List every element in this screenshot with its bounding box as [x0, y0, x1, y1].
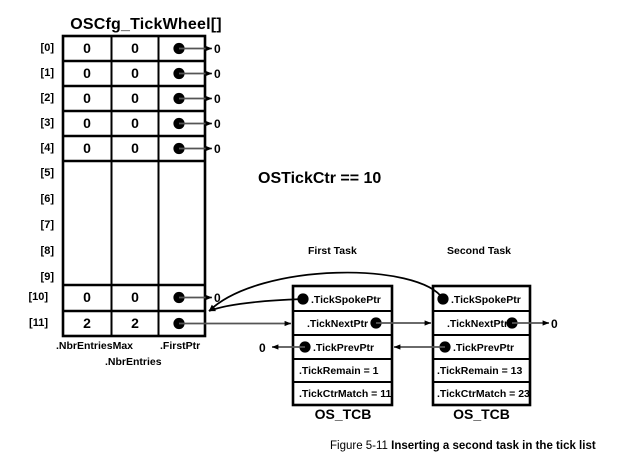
cell-max-11: 2: [63, 315, 111, 331]
task1-tick-spoke-ptr: .TickSpokePtr: [311, 294, 381, 306]
row-index-3: [3]: [18, 117, 54, 129]
label-nbr-entries-max: .NbrEntriesMax: [56, 340, 133, 352]
cell-max-4: 0: [63, 140, 111, 156]
row-index-11: [11]: [12, 317, 48, 329]
task2-tcb-caption: OS_TCB: [433, 406, 530, 422]
task2-tick-prev-ptr: .TickPrevPtr: [453, 342, 514, 354]
terminator-2: 0: [214, 92, 221, 106]
task1-prev-terminator: 0: [259, 341, 266, 355]
task2-tick-spoke-ptr: .TickSpokePtr: [451, 294, 521, 306]
row-4-pointer: [173, 143, 212, 154]
figure-title: Inserting a second task in the tick list: [391, 440, 596, 452]
cell-entries-10: 0: [111, 289, 159, 305]
row-0-pointer: [173, 43, 212, 54]
second-task-header: Second Task: [447, 245, 511, 257]
task2-prev-dot: [439, 341, 450, 352]
task1-spoke-dot: [297, 293, 308, 304]
row-10-pointer: [173, 292, 212, 303]
figure-canvas: OSCfg_TickWheel[] OSTickCtr == 10 [0] [1…: [0, 0, 636, 465]
cell-entries-11: 2: [111, 315, 159, 331]
first-ptr-arrows-top: [173, 43, 212, 154]
task1-spoke-arc: [209, 299, 303, 311]
terminator-1: 0: [214, 67, 221, 81]
cell-entries-0: 0: [111, 40, 159, 56]
row-index-2: [2]: [18, 92, 54, 104]
figure-number: Figure 5-11: [330, 440, 388, 452]
task1-tick-ctr-match: .TickCtrMatch = 11: [299, 388, 391, 400]
row-index-1: [1]: [18, 67, 54, 79]
row-index-7: [7]: [18, 219, 54, 231]
task2-next-terminator: 0: [551, 317, 558, 331]
first-task-header: First Task: [308, 245, 357, 257]
cell-max-1: 0: [63, 65, 111, 81]
cell-max-2: 0: [63, 90, 111, 106]
cell-max-0: 0: [63, 40, 111, 56]
figure-caption: Figure 5-11 Inserting a second task in t…: [330, 440, 596, 452]
row-index-0: [0]: [18, 42, 54, 54]
row-index-9: [9]: [18, 271, 54, 283]
cell-entries-4: 0: [111, 140, 159, 156]
terminator-0: 0: [214, 42, 221, 56]
task1-next-dot: [370, 317, 381, 328]
cell-max-10: 0: [63, 289, 111, 305]
label-first-ptr: .FirstPtr: [160, 340, 200, 352]
row-index-10: [10]: [12, 291, 48, 303]
row-index-4: [4]: [18, 142, 54, 154]
cell-max-3: 0: [63, 115, 111, 131]
task1-tick-next-ptr: .TickNextPtr: [307, 318, 368, 330]
task1-tcb-caption: OS_TCB: [293, 406, 393, 422]
row-2-pointer: [173, 93, 212, 104]
row-11-pointer: [173, 318, 291, 329]
task2-tick-remain: .TickRemain = 13: [437, 365, 522, 377]
terminator-3: 0: [214, 117, 221, 131]
cell-entries-2: 0: [111, 90, 159, 106]
terminator-4: 0: [214, 142, 221, 156]
cell-entries-3: 0: [111, 115, 159, 131]
task2-spoke-dot: [437, 293, 448, 304]
task2-tick-next-ptr: .TickNextPtr: [447, 318, 508, 330]
label-nbr-entries: .NbrEntries: [105, 356, 162, 368]
task1-tick-remain: .TickRemain = 1: [299, 365, 378, 377]
task1-tick-prev-ptr: .TickPrevPtr: [313, 342, 374, 354]
row-index-8: [8]: [18, 245, 54, 257]
row-1-pointer: [173, 68, 212, 79]
task2-tick-ctr-match: .TickCtrMatch = 23: [437, 388, 530, 400]
terminator-10: 0: [214, 291, 221, 305]
tick-counter-label: OSTickCtr == 10: [258, 170, 381, 188]
wheel-title: OSCfg_TickWheel[]: [56, 16, 236, 34]
row-3-pointer: [173, 118, 212, 129]
row-index-6: [6]: [18, 193, 54, 205]
cell-entries-1: 0: [111, 65, 159, 81]
task1-prev-dot: [299, 341, 310, 352]
row-index-5: [5]: [18, 167, 54, 179]
